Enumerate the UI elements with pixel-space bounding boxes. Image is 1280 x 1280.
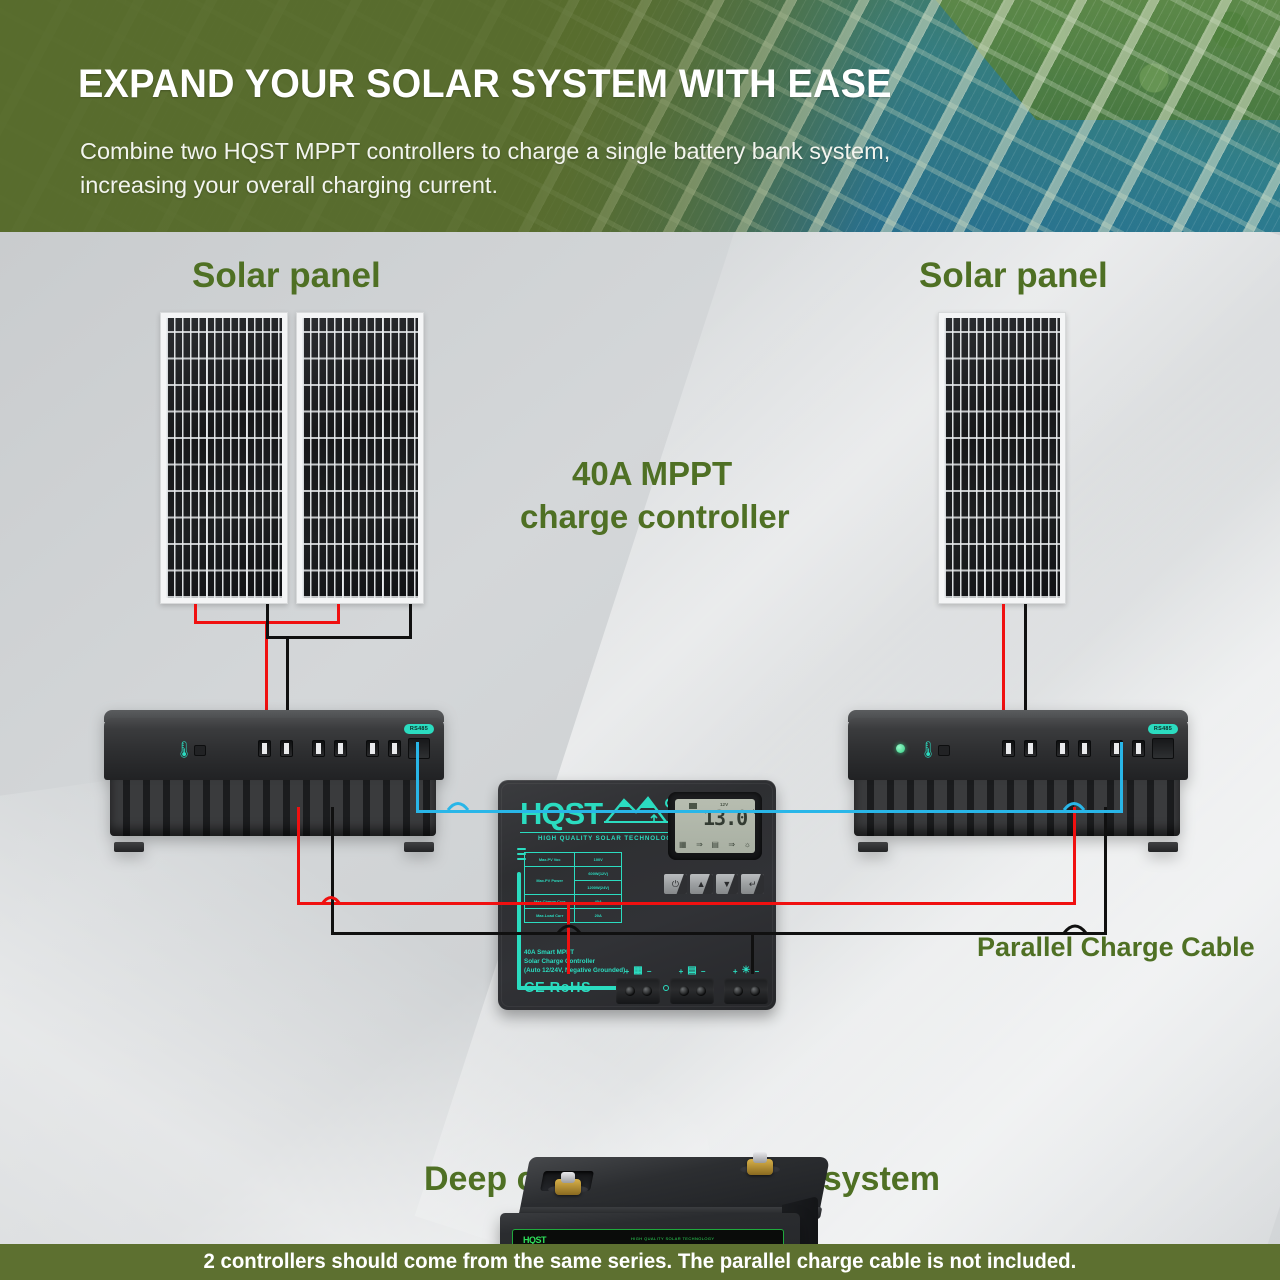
rs485-label: RS485 <box>1148 724 1178 734</box>
certification-mark: CE RoHS <box>524 980 591 996</box>
heatsink-fins <box>110 780 436 836</box>
battery-terminal-block[interactable] <box>670 978 714 1004</box>
diagram-stage: Solar panel Solar panel 40A MPPT charge … <box>0 232 1280 1244</box>
infographic-page: EXPAND YOUR SOLAR SYSTEM WITH EASE Combi… <box>0 0 1280 1280</box>
controller-foot-left <box>858 842 888 852</box>
spec-table: Max.PV Voc 100V Max.PV Power 600W(12V) 1… <box>524 852 622 923</box>
wire-battery-negative-post <box>751 932 754 974</box>
lcd-arrow-in-icon: ⇒ <box>696 840 702 850</box>
solar-panel-left-a <box>160 312 288 604</box>
status-led-square <box>938 745 950 756</box>
lcd-solar-icon: ▦ <box>679 840 687 850</box>
label-solar-panel-right: Solar panel <box>919 256 1108 296</box>
battery-positive-post[interactable] <box>555 1179 581 1195</box>
solar-terminal-labels: + ▦ − <box>616 966 660 976</box>
wire-right-battery-negative-drop <box>1104 807 1107 935</box>
load-plus-label: + <box>733 967 738 976</box>
wire-battery-positive-post <box>567 902 570 974</box>
lcd-arrow-out-icon: ⇒ <box>728 840 734 850</box>
solar-panel-cells <box>166 318 282 598</box>
light-bulb-icon: ☀ <box>742 966 751 976</box>
heatsink-fins <box>854 780 1180 836</box>
battery-negative-terminal[interactable] <box>334 740 347 757</box>
terminal-screw[interactable] <box>642 986 652 996</box>
lcd-display-frame: MPPT 12V 13.0 V ▦ ⇒ ▤ ⇒ ☼ <box>668 792 762 860</box>
lcd-battery-icon: ▤ <box>711 840 719 850</box>
lcd-display: MPPT 12V 13.0 V ▦ ⇒ ▤ ⇒ ☼ <box>675 799 755 853</box>
battery-negative-post[interactable] <box>747 1159 773 1175</box>
battery-terminal-labels: + ▤ − <box>670 966 714 976</box>
terminal-screw[interactable] <box>679 986 689 996</box>
label-parallel-charge-cable: Parallel Charge Cable <box>977 932 1255 963</box>
rs485-port[interactable] <box>408 738 430 759</box>
temperature-sensor-icon: 🌡 <box>174 740 185 762</box>
enter-button[interactable]: ↵ <box>741 874 764 894</box>
battery-label: HQST HIGH QUALITY SOLAR TECHNOLOGY LiFeP… <box>512 1229 784 1244</box>
lcd-battery-bar <box>689 803 697 809</box>
status-led-indicator <box>896 744 905 753</box>
battery-negative-terminal[interactable] <box>1078 740 1091 757</box>
battery-positive-terminal[interactable] <box>1056 740 1069 757</box>
label-solar-panel-left: Solar panel <box>192 256 381 296</box>
controller-foot-right <box>404 842 434 852</box>
solar-terminal-group[interactable]: + ▦ − <box>616 966 660 1004</box>
pv-positive-terminal[interactable] <box>258 740 271 757</box>
controller-description: 40A Smart MPPT Solar Charge Controller (… <box>524 948 625 975</box>
wire-left-battery-positive-run <box>297 902 567 905</box>
temperature-sensor-icon: 🌡 <box>918 740 929 762</box>
battery-terminal-group[interactable]: + ▤ − <box>670 966 714 1004</box>
wire-positive-panel-b-drop <box>337 604 340 624</box>
wire-right-battery-positive-drop <box>1073 807 1076 905</box>
parallel-cable-right-drop <box>1120 742 1123 812</box>
load-positive-terminal[interactable] <box>366 740 379 757</box>
spec-row: Max.Load Curr 20A <box>525 909 622 923</box>
terminal-screw[interactable] <box>696 986 706 996</box>
load-terminal-group[interactable]: + ☀ − <box>724 966 768 1004</box>
spec-key: Max.PV Voc <box>525 853 575 867</box>
lcd-load-icon: ☼ <box>744 840 751 850</box>
pv-negative-terminal[interactable] <box>280 740 293 757</box>
wire-negative-panel-a-drop <box>266 604 269 639</box>
charge-controller-right[interactable]: 🌡 RS485 <box>848 700 1188 845</box>
battery-icon: ▤ <box>687 966 696 976</box>
brand-name: HQST <box>520 799 602 829</box>
description-line-2: Solar Charge Controller <box>524 957 625 966</box>
spec-row: Max.PV Voc 100V <box>525 853 622 867</box>
charge-controller-left[interactable]: 🌡 RS485 <box>104 700 444 845</box>
solar-panel-left-b <box>296 312 424 604</box>
subtitle-line-1: Combine two HQST MPPT controllers to cha… <box>80 134 1100 168</box>
footer-note: 2 controllers should come from the same … <box>204 1250 1077 1274</box>
footer-note-bar: 2 controllers should come from the same … <box>0 1244 1280 1280</box>
wire-left-battery-negative-run <box>331 932 751 935</box>
parallel-cable-left-drop <box>416 742 419 812</box>
subtitle-line-2: increasing your overall charging current… <box>80 168 1100 202</box>
label-charge-controller-line2: charge controller <box>520 497 790 537</box>
controller-foot-left <box>114 842 144 852</box>
label-charge-controller-line1: 40A MPPT <box>572 454 732 494</box>
wire-right-battery-positive-run <box>567 902 1076 905</box>
description-line-3: (Auto 12/24V, Negative Grounded) <box>524 966 625 975</box>
accent-bar-left <box>517 872 521 990</box>
solar-panel-right <box>938 312 1066 604</box>
load-terminal-labels: + ☀ − <box>724 966 768 976</box>
spec-value: 100V <box>575 853 622 867</box>
mppt-charge-controller-front[interactable]: HQST HIGH QUALITY SOLAR TECHNOLOGY <box>498 780 776 1010</box>
terminal-screw[interactable] <box>750 986 760 996</box>
parallel-cable-run <box>416 810 1123 813</box>
header-banner: EXPAND YOUR SOLAR SYSTEM WITH EASE Combi… <box>0 0 1280 232</box>
power-button[interactable]: ⏻ <box>664 874 687 894</box>
spec-key: Max.PV Power <box>525 867 575 895</box>
controller-foot-right <box>1148 842 1178 852</box>
status-led-square <box>194 745 206 756</box>
spec-value-2: 1200W(24V) <box>575 881 622 895</box>
load-terminal-block[interactable] <box>724 978 768 1004</box>
load-minus-label: − <box>754 967 759 976</box>
spec-value: 20A <box>575 909 622 923</box>
battery-positive-terminal[interactable] <box>312 740 325 757</box>
load-negative-terminal[interactable] <box>1132 740 1145 757</box>
wire-left-battery-negative-drop <box>331 807 334 935</box>
solar-panel-cells <box>302 318 418 598</box>
pv-negative-terminal[interactable] <box>1024 740 1037 757</box>
battery-brand-sub: HIGH QUALITY SOLAR TECHNOLOGY <box>631 1236 714 1241</box>
up-button[interactable]: ▲ <box>690 874 713 894</box>
description-line-1: 40A Smart MPPT <box>524 948 625 957</box>
battery-plus-label: + <box>679 967 684 976</box>
wire-right-battery-negative-run <box>751 932 1107 935</box>
wire-left-battery-positive-drop <box>297 807 300 905</box>
solar-panel-icon: ▦ <box>633 966 642 976</box>
deep-cycle-battery[interactable]: HQST HIGH QUALITY SOLAR TECHNOLOGY LiFeP… <box>490 1157 830 1244</box>
terminal-screw[interactable] <box>625 986 635 996</box>
wire-negative-panel-b-drop <box>409 604 412 639</box>
solar-minus-label: − <box>647 967 652 976</box>
battery-minus-label: − <box>701 967 706 976</box>
solar-plus-label: + <box>625 967 630 976</box>
spec-row: Max.PV Power 600W(12V) <box>525 867 622 881</box>
load-negative-terminal[interactable] <box>388 740 401 757</box>
keypad[interactable]: ⏻ ▲ ▼ ↵ <box>664 874 764 894</box>
solar-terminal-block[interactable] <box>616 978 660 1004</box>
pv-positive-terminal[interactable] <box>1002 740 1015 757</box>
terminal-screw[interactable] <box>733 986 743 996</box>
terminal-row: + ▦ − + ▤ − <box>616 956 768 1004</box>
lcd-icon-row: ▦ ⇒ ▤ ⇒ ☼ <box>679 840 751 850</box>
page-subtitle: Combine two HQST MPPT controllers to cha… <box>80 134 1100 202</box>
rs485-port[interactable] <box>1152 738 1174 759</box>
battery-brand: HQST <box>523 1235 546 1244</box>
solar-panel-cells <box>944 318 1060 598</box>
rs485-label: RS485 <box>404 724 434 734</box>
down-button[interactable]: ▼ <box>716 874 739 894</box>
page-title: EXPAND YOUR SOLAR SYSTEM WITH EASE <box>78 62 892 107</box>
spec-value: 600W(12V) <box>575 867 622 881</box>
